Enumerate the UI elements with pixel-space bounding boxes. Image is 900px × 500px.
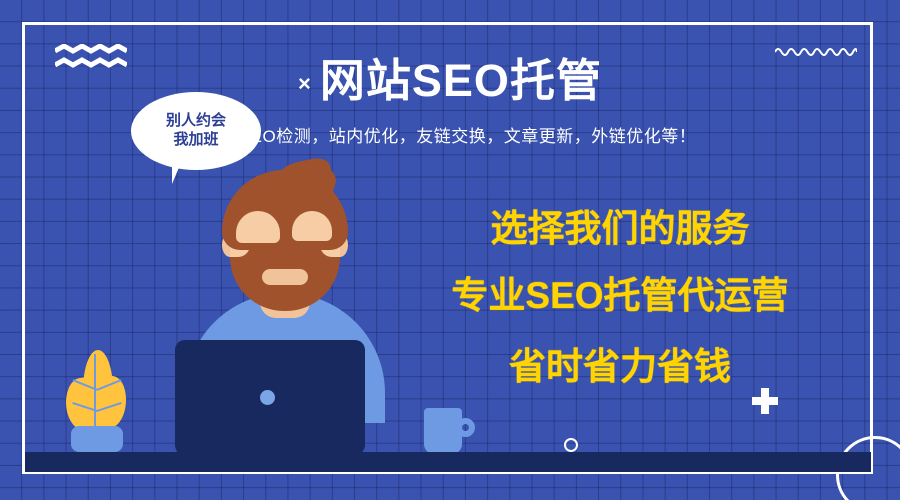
potted-plant xyxy=(60,348,130,454)
highlight-line-3: 省时省力省钱 xyxy=(360,336,880,390)
laptop-logo-icon xyxy=(260,390,275,405)
plus-icon xyxy=(752,388,778,414)
highlight-line-2: 专业SEO托管代运营 xyxy=(360,265,880,319)
speech-bubble-text: 别人约会 我加班 xyxy=(131,92,261,170)
laptop xyxy=(175,340,365,455)
speech-bubble: 别人约会 我加班 xyxy=(131,92,261,170)
speech-bubble-line-1: 别人约会 xyxy=(166,112,226,131)
highlight-line-1: 选择我们的服务 xyxy=(360,198,880,252)
seo-promo-banner: ×网站SEO托管 含：SEO检测，站内优化，友链交换，文章更新，外链优化等！ 选… xyxy=(0,0,900,500)
person-mouth xyxy=(262,269,308,285)
title-text: 网站SEO托管 xyxy=(320,55,602,106)
plant-vein-main xyxy=(94,354,96,432)
speech-bubble-line-2: 我加班 xyxy=(173,131,218,150)
coffee-mug xyxy=(424,408,476,454)
desk-surface xyxy=(25,452,871,472)
title-x-mark: × xyxy=(298,71,312,96)
circle-outline-icon xyxy=(564,438,578,452)
mug-body xyxy=(424,408,462,454)
plant-pot xyxy=(71,426,123,452)
